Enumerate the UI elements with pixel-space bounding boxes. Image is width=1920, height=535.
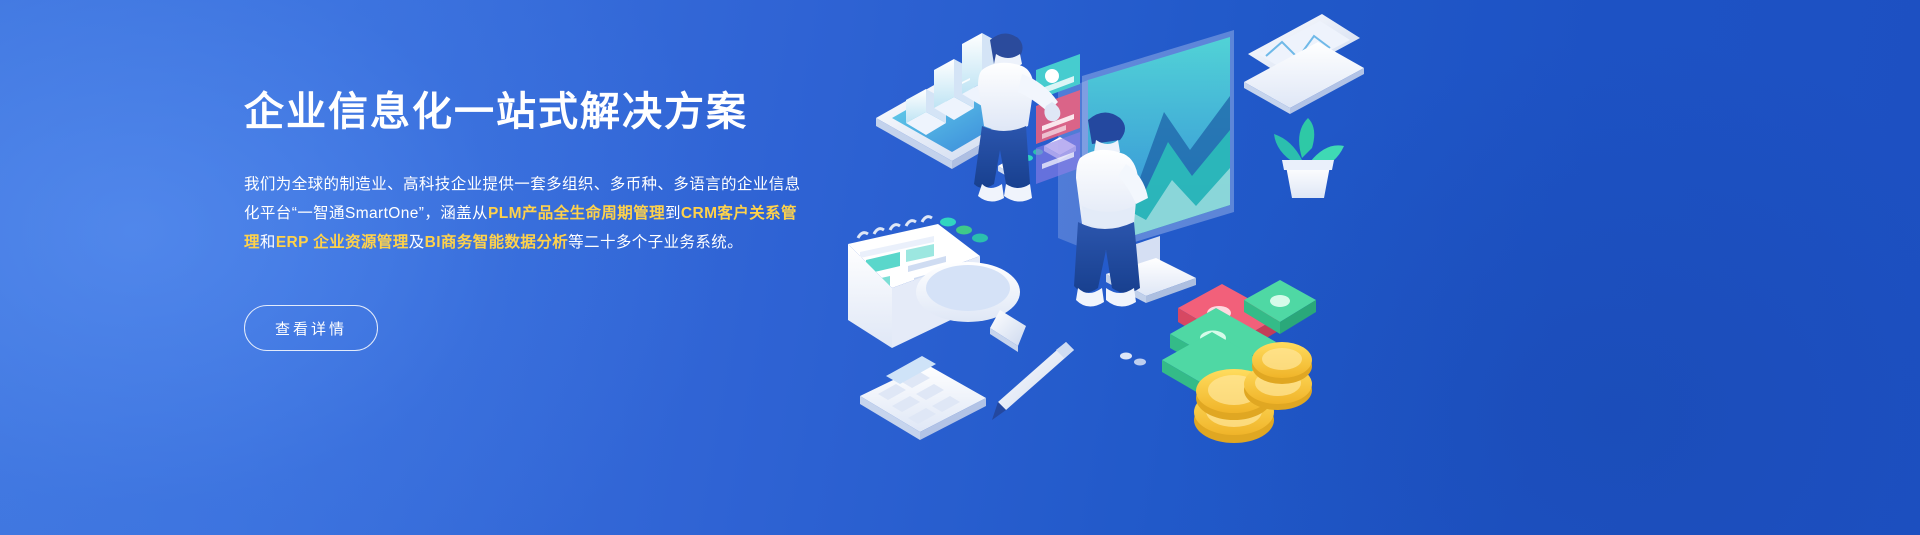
enterprise-isometric-illustration: $ xyxy=(830,0,1450,535)
hero-copy: 企业信息化一站式解决方案 我们为全球的制造业、高科技企业提供一套多组织、多币种、… xyxy=(244,88,864,351)
ui-card-strip xyxy=(1036,54,1080,184)
page-title: 企业信息化一站式解决方案 xyxy=(244,88,864,136)
keyword-plm: PLM产品全生命周期管理 xyxy=(488,205,665,222)
pen xyxy=(992,342,1074,420)
description-segment-5: 等二十多个子业务系统。 xyxy=(568,234,743,251)
hero-banner: 企业信息化一站式解决方案 我们为全球的制造业、高科技企业提供一套多组织、多币种、… xyxy=(0,0,1920,535)
description-segment-2: 到 xyxy=(665,205,681,222)
keyword-erp: ERP 企业资源管理 xyxy=(276,234,409,251)
view-details-button[interactable]: 查看详情 xyxy=(244,305,378,351)
description-segment-3: 和 xyxy=(260,234,276,251)
keyword-bi: BI商务智能数据分析 xyxy=(425,234,569,251)
description-segment-4: 及 xyxy=(409,234,425,251)
hero-description: 我们为全球的制造业、高科技企业提供一套多组织、多币种、多语言的企业信息化平台“一… xyxy=(244,170,804,257)
magnifier xyxy=(916,262,1026,352)
potted-plant xyxy=(1274,118,1344,198)
calculator xyxy=(860,356,986,440)
laptop xyxy=(1244,14,1364,114)
